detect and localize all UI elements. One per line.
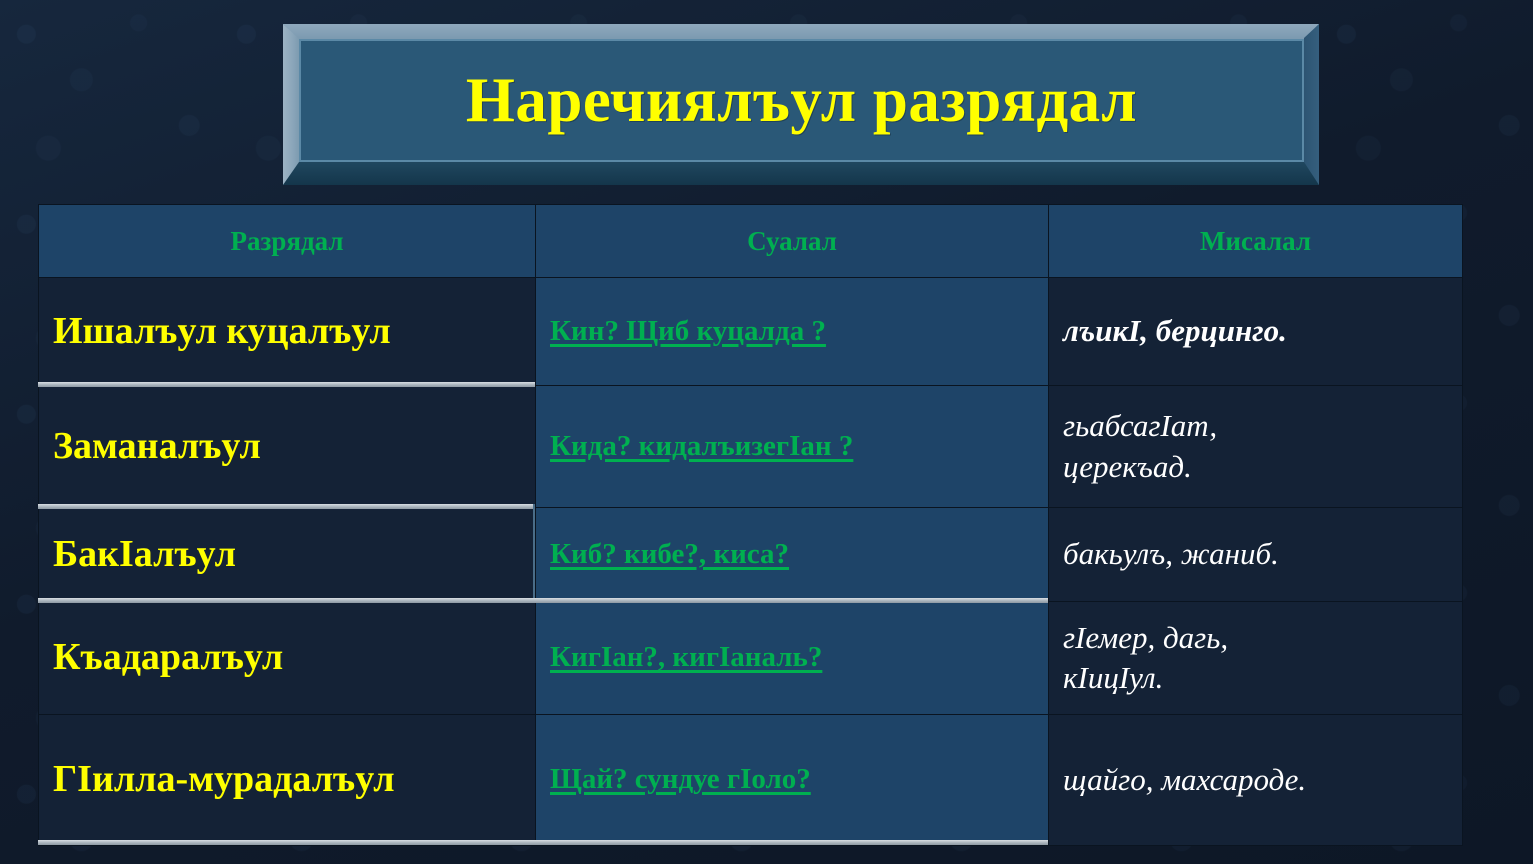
table-header-cell-categories: Разрядал — [39, 205, 536, 278]
category-label: Заманалъул — [53, 427, 521, 467]
category-label: ГIилла-мурадалъул — [53, 760, 521, 800]
example-line: гIемер, дагь, — [1063, 618, 1448, 658]
example-line: гьабсагIат, — [1063, 406, 1448, 446]
title-bevel-left-edge — [283, 24, 299, 185]
question-cell: Щай? сундуе гIоло? — [536, 715, 1049, 846]
question-label: Кин? Щиб куцалда ? — [550, 315, 826, 348]
question-label: Киб? кибе?, киса? — [550, 538, 789, 571]
question-cell: Кин? Щиб куцалда ? — [536, 278, 1049, 386]
table-row: Къадаралъул КигIан?, кигIаналь? гIемер, … — [39, 602, 1463, 715]
category-cell: Ишалъул куцалъул — [39, 278, 536, 386]
adverb-categories-table: Разрядал Суалал Мисалал Ишалъул куцалъул… — [38, 204, 1462, 845]
column-header-label: Суалал — [550, 226, 1034, 257]
question-label: КигIан?, кигIаналь? — [550, 641, 822, 674]
example-line: кIицIул. — [1063, 658, 1448, 698]
table-row: Ишалъул куцалъул Кин? Щиб куцалда ? лъик… — [39, 278, 1463, 386]
table-header-cell-questions: Суалал — [536, 205, 1049, 278]
title-bevel-top-edge — [283, 24, 1319, 39]
title-bevel-bottom-edge — [283, 162, 1319, 185]
category-cell: ГIилла-мурадалъул — [39, 715, 536, 846]
column-header-label: Разрядал — [53, 226, 521, 257]
question-label: Щай? сундуе гIоло? — [550, 763, 811, 796]
table-header-cell-examples: Мисалал — [1049, 205, 1463, 278]
example-line: бакьулъ, жаниб. — [1063, 534, 1448, 574]
title-bevel-right-edge — [1304, 24, 1319, 185]
question-cell: Киб? кибе?, киса? — [536, 508, 1049, 602]
table-header-row: Разрядал Суалал Мисалал — [39, 205, 1463, 278]
title-inner-panel: Наречиялъул разрядал — [299, 39, 1304, 162]
example-cell: щайго, махсароде. — [1049, 715, 1463, 846]
category-cell: БакIалъул — [39, 508, 536, 602]
table-row: БакIалъул Киб? кибе?, киса? бакьулъ, жан… — [39, 508, 1463, 602]
slide-title-panel: Наречиялъул разрядал — [283, 24, 1319, 185]
category-cell: Заманалъул — [39, 386, 536, 508]
category-label: Ишалъул куцалъул — [53, 312, 521, 352]
page-title: Наречиялъул разрядал — [466, 69, 1137, 132]
category-label: Къадаралъул — [53, 638, 521, 678]
question-cell: КигIан?, кигIаналь? — [536, 602, 1049, 715]
example-cell: лъикI, берцинго. — [1049, 278, 1463, 386]
example-cell: гьабсагIат, церекъад. — [1049, 386, 1463, 508]
table-row: Заманалъул Кида? кидалъизегIан ? гьабсаг… — [39, 386, 1463, 508]
table-row: ГIилла-мурадалъул Щай? сундуе гIоло? щай… — [39, 715, 1463, 846]
example-line: церекъад. — [1063, 447, 1448, 487]
category-label: БакIалъул — [53, 535, 521, 575]
column-header-label: Мисалал — [1063, 226, 1448, 257]
category-cell: Къадаралъул — [39, 602, 536, 715]
example-line: лъикI, берцинго. — [1063, 311, 1448, 351]
question-cell: Кида? кидалъизегIан ? — [536, 386, 1049, 508]
example-cell: бакьулъ, жаниб. — [1049, 508, 1463, 602]
example-line: щайго, махсароде. — [1063, 760, 1448, 800]
question-label: Кида? кидалъизегIан ? — [550, 430, 853, 463]
example-cell: гIемер, дагь, кIицIул. — [1049, 602, 1463, 715]
